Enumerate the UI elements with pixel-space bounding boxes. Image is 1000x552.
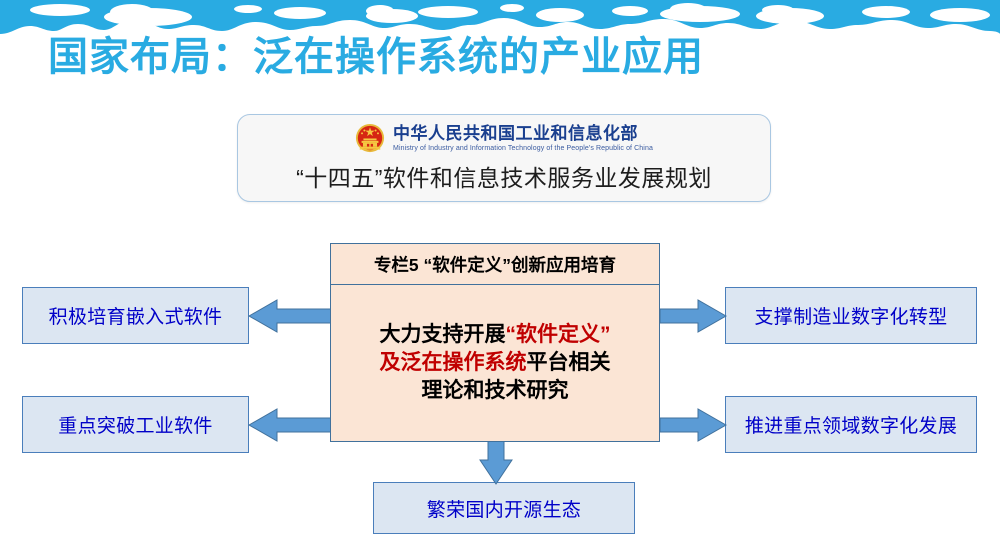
arrow-right-bottom-icon (658, 406, 728, 444)
satellite-box-industrial-software[interactable]: 重点突破工业软件 (22, 396, 249, 453)
arrow-down-icon (477, 438, 515, 486)
slide-root: 国家布局：泛在操作系统的产业应用 (0, 0, 1000, 552)
ministry-name-en: Ministry of Industry and Information Tec… (393, 145, 653, 152)
center-box-seg-1b: “软件定义” (506, 323, 611, 346)
ministry-name-cn: 中华人民共和国工业和信息化部 (393, 125, 653, 142)
satellite-box-key-fields-digital[interactable]: 推进重点领域数字化发展 (725, 396, 977, 453)
center-box-seg-1a: 大力支持开展 (380, 323, 506, 346)
center-box: 专栏5 “软件定义”创新应用培育 大力支持开展“软件定义” 及泛在操作系统平台相… (330, 243, 660, 442)
center-box-seg-3a: 理论和技术研究 (422, 379, 569, 402)
document-header-card: 中华人民共和国工业和信息化部 Ministry of Industry and … (237, 114, 771, 202)
arrow-right-top-icon (658, 297, 728, 335)
center-box-seg-2b: 平台相关 (527, 351, 611, 374)
center-box-line-1: 大力支持开展“软件定义” (380, 321, 611, 349)
center-box-line-3: 理论和技术研究 (380, 377, 611, 405)
arrow-left-top-icon (247, 297, 333, 335)
center-box-body: 大力支持开展“软件定义” 及泛在操作系统平台相关 理论和技术研究 (331, 285, 659, 441)
satellite-box-open-source-ecosystem[interactable]: 繁荣国内开源生态 (373, 482, 635, 534)
center-box-line-2: 及泛在操作系统平台相关 (380, 349, 611, 377)
plan-title: “十四五”软件和信息技术服务业发展规划 (238, 159, 770, 193)
satellite-box-manufacturing-digital[interactable]: 支撑制造业数字化转型 (725, 287, 977, 344)
slide-title: 国家布局：泛在操作系统的产业应用 (48, 34, 948, 80)
satellite-box-embedded-software[interactable]: 积极培育嵌入式软件 (22, 287, 249, 344)
ministry-banner: 中华人民共和国工业和信息化部 Ministry of Industry and … (238, 115, 770, 153)
center-box-header: 专栏5 “软件定义”创新应用培育 (331, 244, 659, 285)
arrow-left-bottom-icon (247, 406, 333, 444)
center-box-seg-2a: 及泛在操作系统 (380, 351, 527, 374)
china-national-emblem-icon (355, 123, 385, 153)
